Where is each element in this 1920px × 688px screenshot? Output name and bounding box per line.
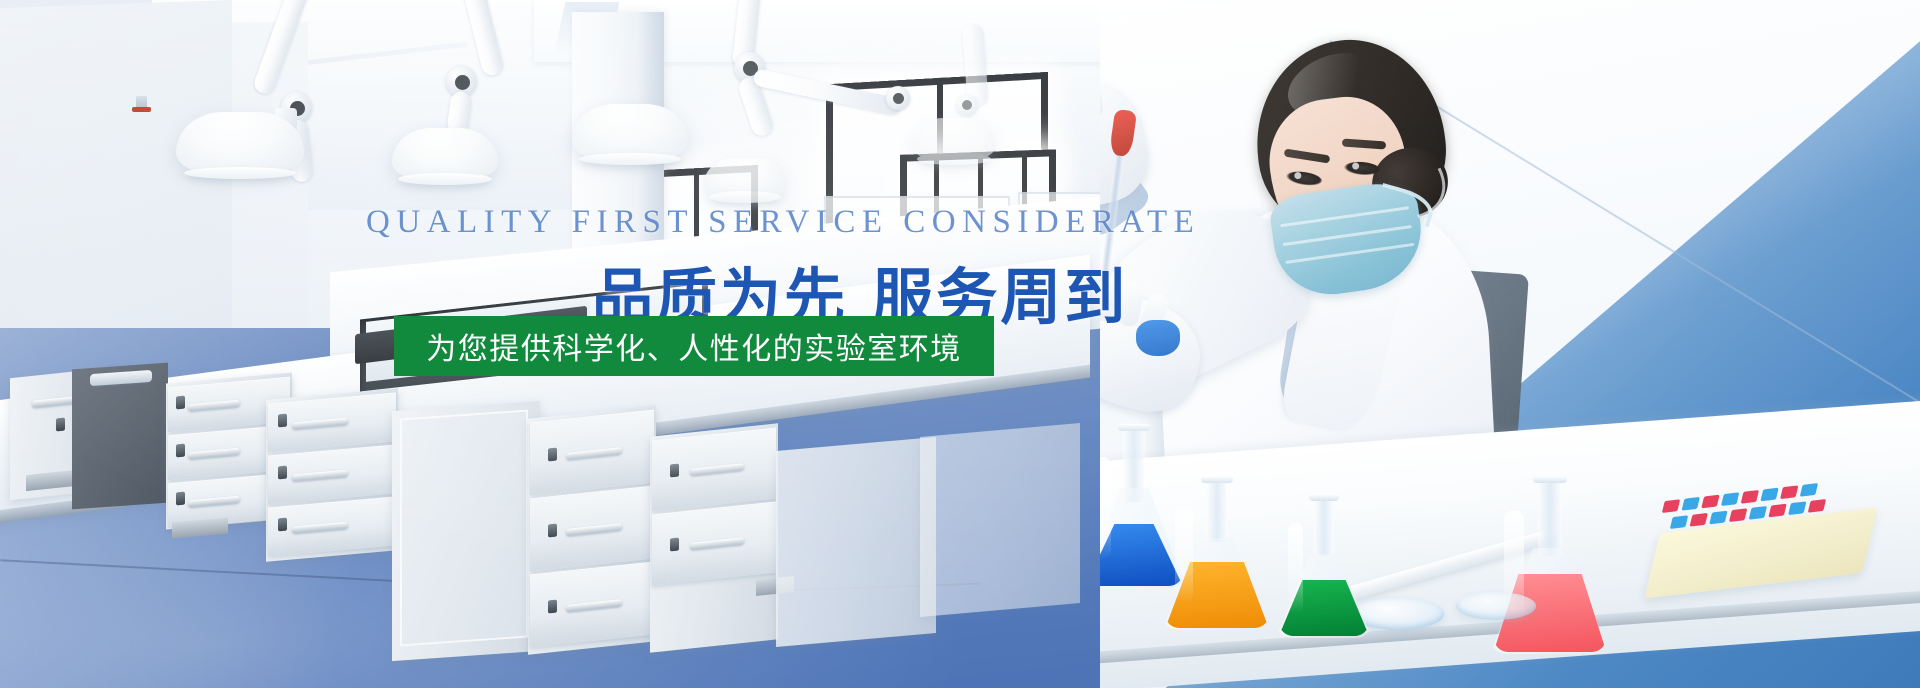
banner-text-overlay: QUALITY FIRST SERVICE CONSIDERATE 品质为先 服… — [0, 0, 1920, 688]
hero-banner: QUALITY FIRST SERVICE CONSIDERATE 品质为先 服… — [0, 0, 1920, 688]
banner-subtitle-text: 为您提供科学化、人性化的实验室环境 — [426, 324, 962, 368]
banner-eyebrow-text: QUALITY FIRST SERVICE CONSIDERATE — [366, 204, 1200, 241]
banner-subtitle-bar: 为您提供科学化、人性化的实验室环境 — [394, 316, 994, 376]
